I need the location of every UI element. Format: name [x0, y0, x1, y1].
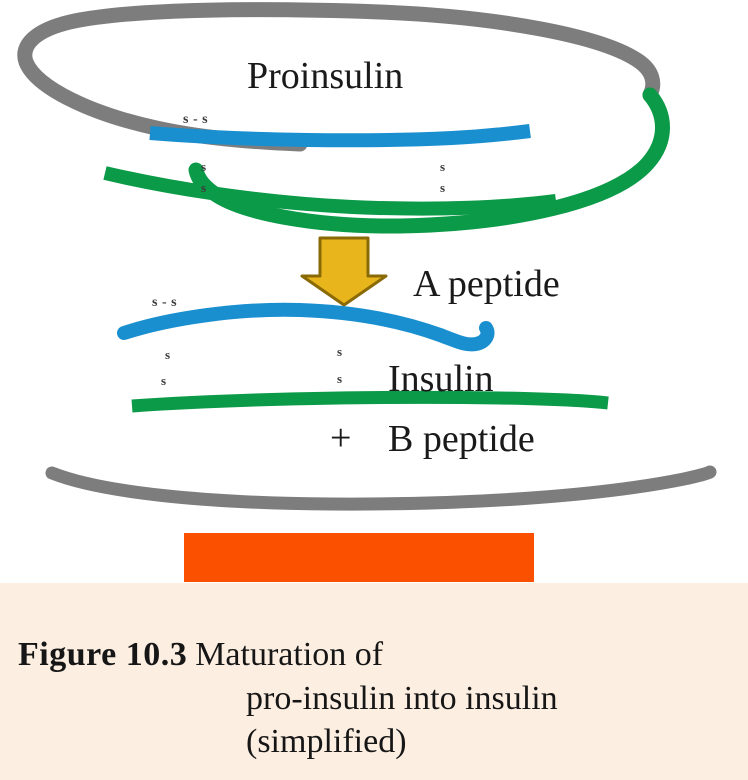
free-c-peptide-gray [52, 472, 710, 504]
insulin-disulfide-top-label: s - s [152, 296, 177, 310]
insulin-label: Insulin [388, 360, 494, 398]
proinsulin-disulfide-right-upper-label: s [440, 160, 446, 173]
maturation-arrow-icon [302, 238, 386, 305]
caption-text-line-3: (simplified) [246, 720, 728, 764]
proinsulin-disulfide-left-upper-label: s [201, 160, 207, 173]
figure-page: Proinsulin A peptide Insulin + B peptide… [0, 0, 748, 780]
caption-text-line-1: Maturation of [195, 636, 383, 673]
insulin-a-chain-blue [124, 310, 488, 345]
proinsulin-a-chain-blue [150, 131, 530, 140]
plus-sign-label: + [330, 419, 351, 457]
caption-first-line: Figure 10.3Maturation of [18, 633, 728, 677]
figure-caption-band: Figure 10.3Maturation of pro-insulin int… [0, 583, 748, 780]
figure-caption: Figure 10.3Maturation of pro-insulin int… [18, 633, 728, 764]
orange-block [184, 533, 534, 582]
proinsulin-b-chain-green [105, 173, 556, 209]
insulin-disulfide-left-lower-label: s [161, 374, 167, 387]
caption-text-line-2: pro-insulin into insulin [246, 677, 728, 721]
figure-number: Figure 10.3 [18, 636, 187, 673]
proinsulin-disulfide-top-label: s - s [183, 113, 208, 127]
insulin-disulfide-right-upper-label: s [337, 345, 343, 358]
insulin-b-chain-green [132, 397, 608, 406]
proinsulin-label: Proinsulin [247, 57, 403, 95]
a-peptide-label: A peptide [413, 265, 560, 303]
b-peptide-label: B peptide [388, 420, 535, 458]
insulin-disulfide-right-lower-label: s [337, 372, 343, 385]
insulin-disulfide-left-upper-label: s [165, 348, 171, 361]
proinsulin-disulfide-left-lower-label: s [201, 181, 207, 194]
proinsulin-disulfide-right-lower-label: s [440, 181, 446, 194]
